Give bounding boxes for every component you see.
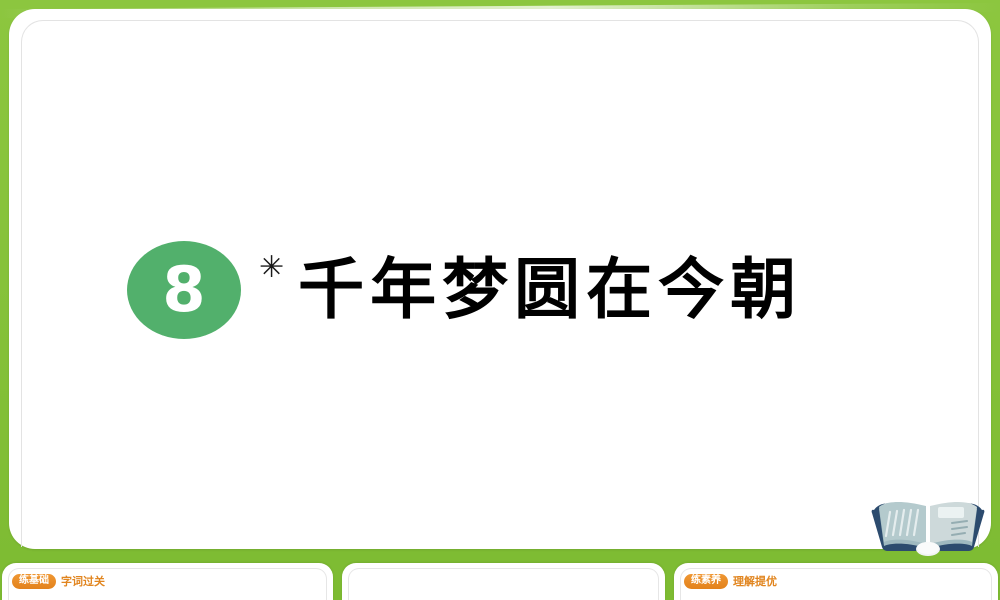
lesson-number: 8 <box>162 259 205 321</box>
section-header-literacy: 练素养 理解提优 <box>684 574 777 589</box>
lesson-number-badge: 8 <box>127 241 241 339</box>
bottom-panel-3: 练素养 理解提优 <box>674 563 998 600</box>
asterisk-icon: ✳ <box>259 253 284 283</box>
bottom-panel-2-outline <box>348 568 659 600</box>
section-pill-basics: 练基础 <box>12 574 56 589</box>
page-title: 千年梦圆在今朝 <box>298 257 802 323</box>
section-pill-literacy: 练素养 <box>684 574 728 589</box>
section-caption-literacy: 理解提优 <box>733 576 777 588</box>
open-book-icon <box>866 492 990 558</box>
bottom-panel-2 <box>342 563 665 600</box>
lesson-title-row: 8 ✳ 千年梦圆在今朝 <box>127 241 802 339</box>
bottom-panel-1: 练基础 字词过关 <box>2 563 333 600</box>
section-header-basics: 练基础 字词过关 <box>12 574 105 589</box>
bottom-sections-strip: 练基础 字词过关 练素养 理解提优 <box>0 563 1000 600</box>
section-caption-basics: 字词过关 <box>61 576 105 588</box>
main-content-card: 8 ✳ 千年梦圆在今朝 <box>9 9 991 549</box>
worksheet-page: 8 ✳ 千年梦圆在今朝 <box>0 0 1000 600</box>
